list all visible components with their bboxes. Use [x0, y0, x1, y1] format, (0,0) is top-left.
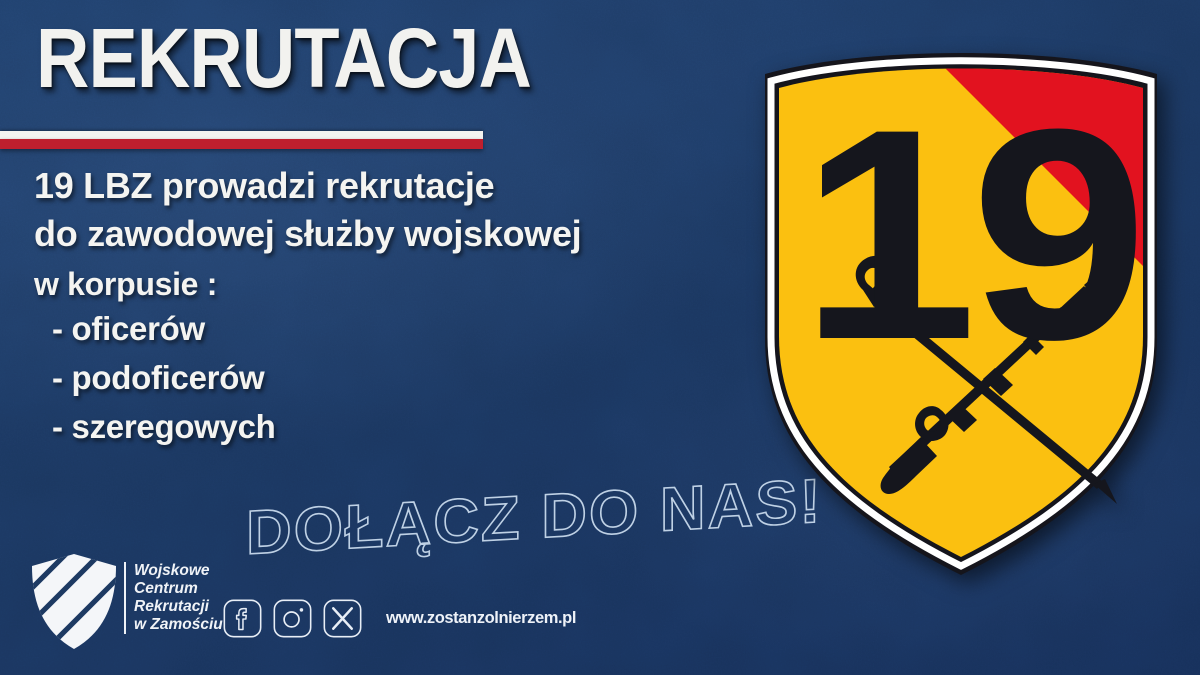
body-line-3: w korpusie :: [34, 268, 754, 300]
flag-divider: [0, 131, 483, 149]
divider-white-stripe: [0, 131, 483, 139]
wcr-text-line-4: w Zamościu: [134, 616, 223, 634]
body-line-1: 19 LBZ prowadzi rekrutacje: [34, 168, 754, 204]
wcr-text-line-2: Centrum: [134, 580, 223, 598]
unit-badge: 19: [745, 38, 1177, 583]
badge-unit-number: 19: [800, 66, 1141, 402]
x-twitter-icon[interactable]: [322, 598, 363, 639]
wcr-logo-text: Wojskowe Centrum Rekrutacji w Zamościu: [124, 562, 223, 634]
social-links: www.zostanzolnierzem.pl: [222, 598, 576, 639]
shield-logo-icon: [28, 552, 120, 652]
corps-item-privates: - szeregowych: [52, 410, 754, 443]
facebook-icon[interactable]: [222, 598, 263, 639]
call-to-action: DOŁĄCZ DO NAS!: [246, 466, 823, 569]
wcr-text-line-1: Wojskowe: [134, 562, 223, 580]
body-line-2: do zawodowej służby wojskowej: [34, 216, 754, 252]
corps-item-nco: - podoficerów: [52, 361, 754, 394]
corps-item-officers: - oficerów: [52, 312, 754, 345]
body-copy: 19 LBZ prowadzi rekrutacje do zawodowej …: [34, 168, 754, 459]
divider-red-stripe: [0, 139, 483, 149]
poster-canvas: REKRUTACJA 19 LBZ prowadzi rekrutacje do…: [0, 0, 1200, 675]
page-title: REKRUTACJA: [36, 18, 531, 99]
instagram-icon[interactable]: [272, 598, 313, 639]
website-url[interactable]: www.zostanzolnierzem.pl: [386, 609, 576, 628]
wcr-text-line-3: Rekrutacji: [134, 598, 223, 616]
